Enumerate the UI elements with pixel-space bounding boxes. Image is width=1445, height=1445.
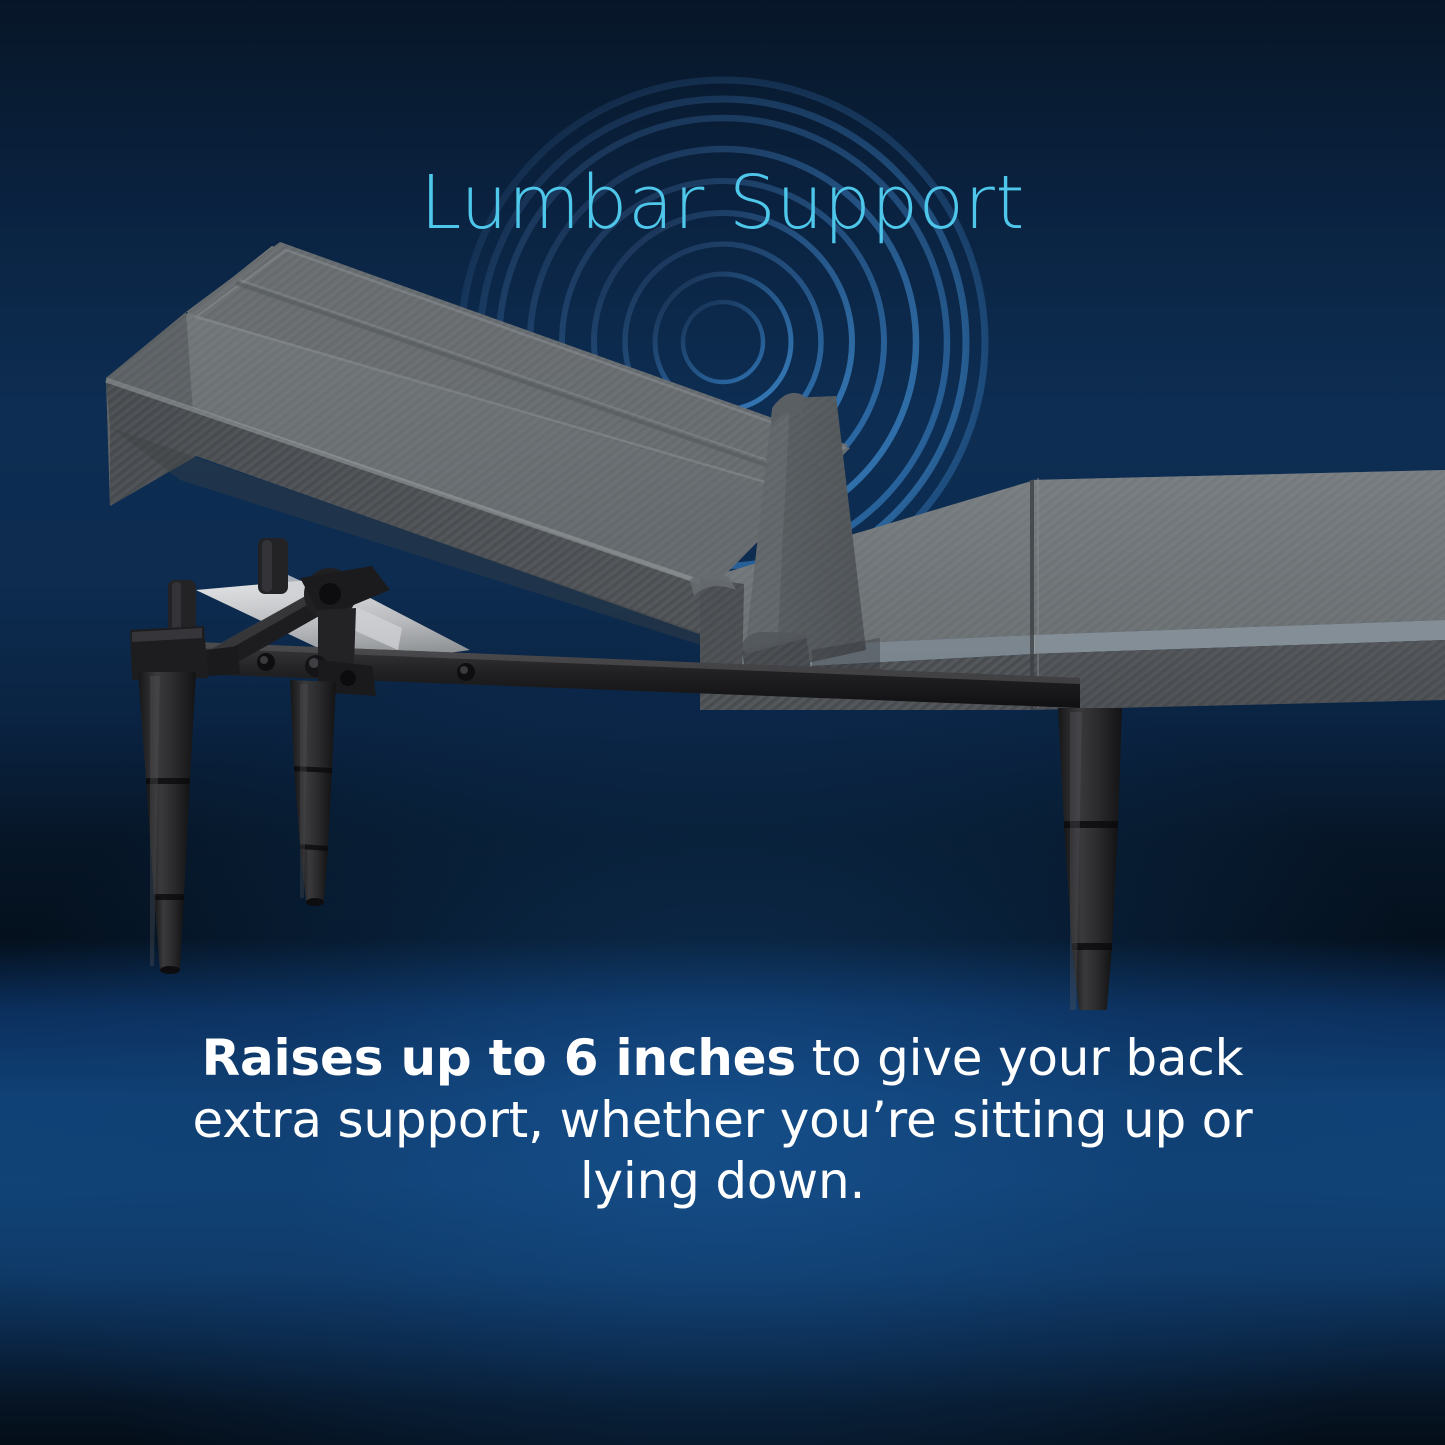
leg-rear-left bbox=[290, 680, 336, 906]
product-feature-card: Lumbar Support bbox=[0, 0, 1445, 1445]
adjustable-bed-base-illustration bbox=[0, 180, 1445, 1010]
caption-bold-text: Raises up to 6 inches bbox=[202, 1029, 796, 1087]
feature-caption: Raises up to 6 inches to give your back … bbox=[180, 1028, 1265, 1213]
leg-foot-right bbox=[1058, 708, 1122, 1010]
leg-front-left bbox=[138, 672, 196, 974]
foot-section bbox=[1030, 470, 1445, 710]
legs bbox=[138, 672, 1122, 1010]
